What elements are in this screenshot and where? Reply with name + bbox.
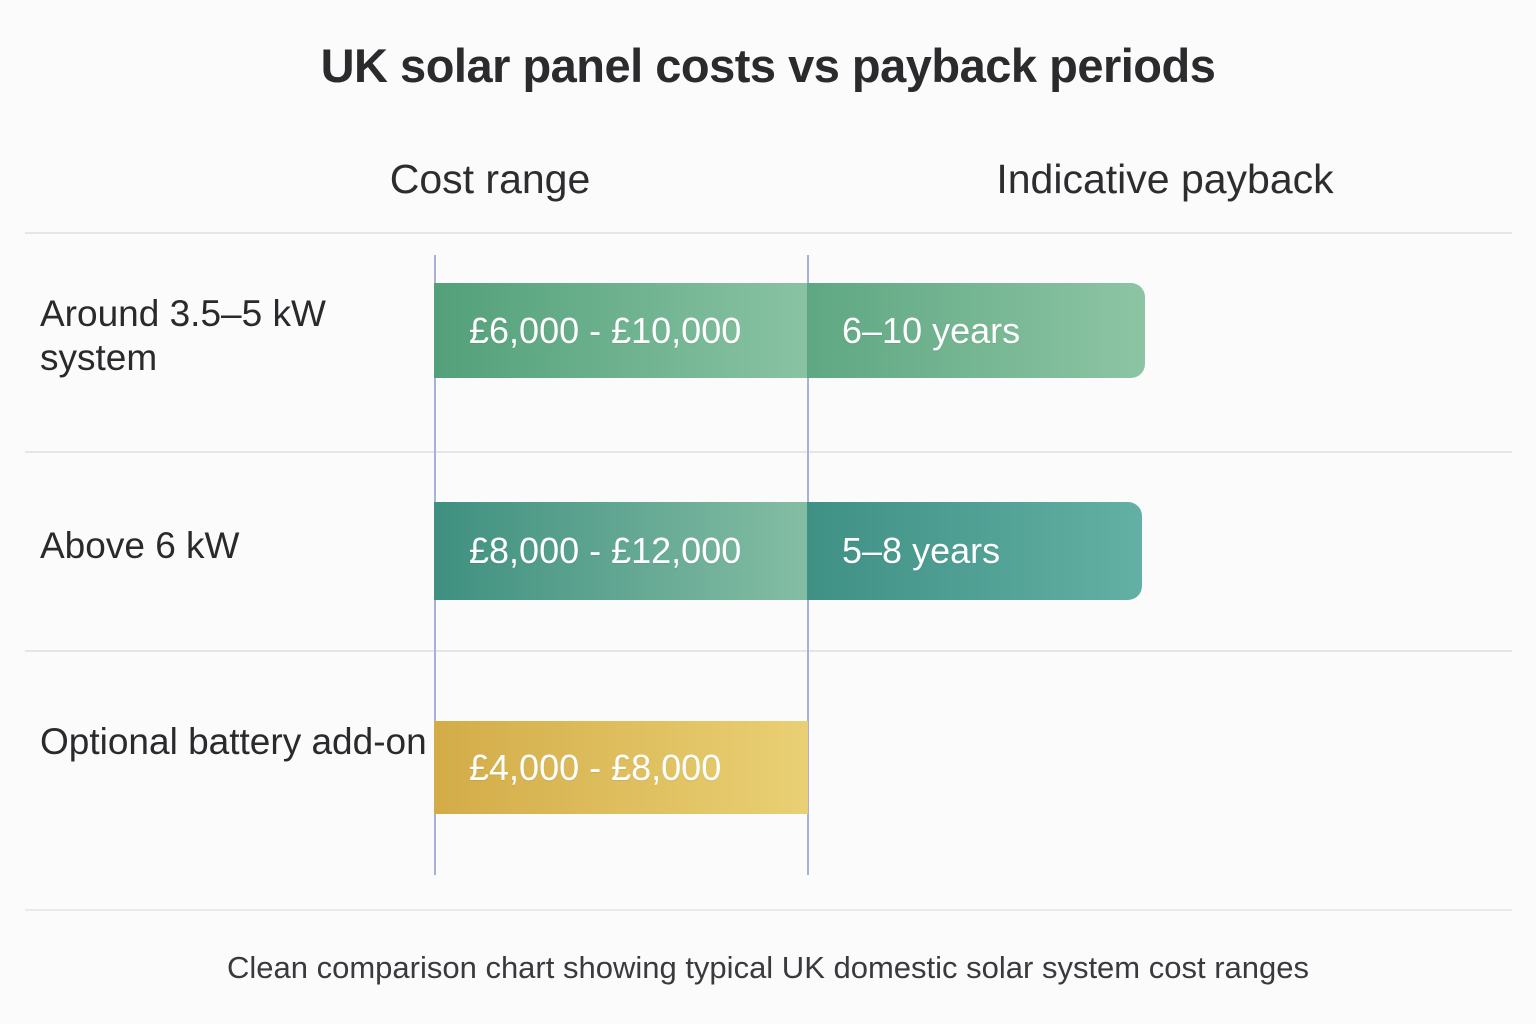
cost-bar-label-row-2: £8,000 - £12,000 — [434, 530, 741, 572]
cost-bar-row-3: £4,000 - £8,000 — [434, 721, 808, 814]
payback-bar-row-1: 6–10 years — [807, 283, 1145, 378]
column-header-indicative-payback: Indicative payback — [870, 156, 1460, 203]
cost-bar-label-row-3: £4,000 - £8,000 — [434, 747, 721, 789]
row-label-optional-battery-add-on: Optional battery add-on — [40, 720, 430, 764]
cost-bar-row-2: £8,000 - £12,000 — [434, 502, 808, 600]
row-label-around-3-5-5-kw-system: Around 3.5–5 kW system — [40, 292, 430, 379]
cost-bar-label-row-1: £6,000 - £10,000 — [434, 310, 741, 352]
chart-container: UK solar panel costs vs payback periods … — [0, 0, 1536, 1024]
row-separator-2 — [25, 650, 1512, 652]
row-separator-1 — [25, 451, 1512, 453]
payback-bar-label-row-1: 6–10 years — [807, 310, 1020, 352]
payback-bar-row-2: 5–8 years — [807, 502, 1142, 600]
chart-title: UK solar panel costs vs payback periods — [0, 38, 1536, 93]
footer-caption: Clean comparison chart showing typical U… — [0, 950, 1536, 986]
column-header-cost-range: Cost range — [240, 156, 740, 203]
header-separator — [25, 232, 1512, 234]
row-label-above-6-kw: Above 6 kW — [40, 524, 430, 568]
cost-bar-row-1: £6,000 - £10,000 — [434, 283, 808, 378]
payback-bar-label-row-2: 5–8 years — [807, 530, 1000, 572]
footer-separator — [25, 909, 1512, 911]
